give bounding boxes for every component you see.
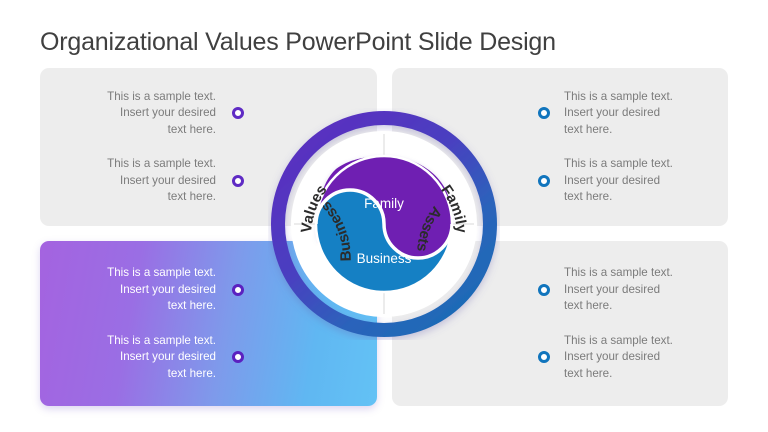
bullet-ring-icon — [232, 284, 244, 296]
bullet-ring-icon — [538, 107, 550, 119]
bullet-ring-icon — [538, 284, 550, 296]
core-label-family: Family — [364, 196, 404, 211]
bullet-ring-icon — [232, 175, 244, 187]
central-diagram[interactable]: Values Family Business Assets Family Bus… — [268, 108, 500, 340]
list-item-text: This is a sample text. Insert your desir… — [564, 89, 673, 139]
list-item-text: This is a sample text. Insert your desir… — [107, 265, 216, 315]
list-item-text: This is a sample text. Insert your desir… — [107, 89, 216, 139]
slide-canvas: Organizational Values PowerPoint Slide D… — [0, 0, 768, 432]
core-label-business: Business — [357, 251, 412, 266]
list-item-text: This is a sample text. Insert your desir… — [107, 156, 216, 206]
bullet-ring-icon — [538, 351, 550, 363]
bullet-ring-icon — [232, 351, 244, 363]
bullet-ring-icon — [538, 175, 550, 187]
list-item-text: This is a sample text. Insert your desir… — [564, 265, 673, 315]
bullet-ring-icon — [232, 107, 244, 119]
page-title: Organizational Values PowerPoint Slide D… — [40, 28, 556, 57]
list-item-text: This is a sample text. Insert your desir… — [564, 333, 673, 383]
list-item-text: This is a sample text. Insert your desir… — [564, 156, 673, 206]
list-item-text: This is a sample text. Insert your desir… — [107, 333, 216, 383]
